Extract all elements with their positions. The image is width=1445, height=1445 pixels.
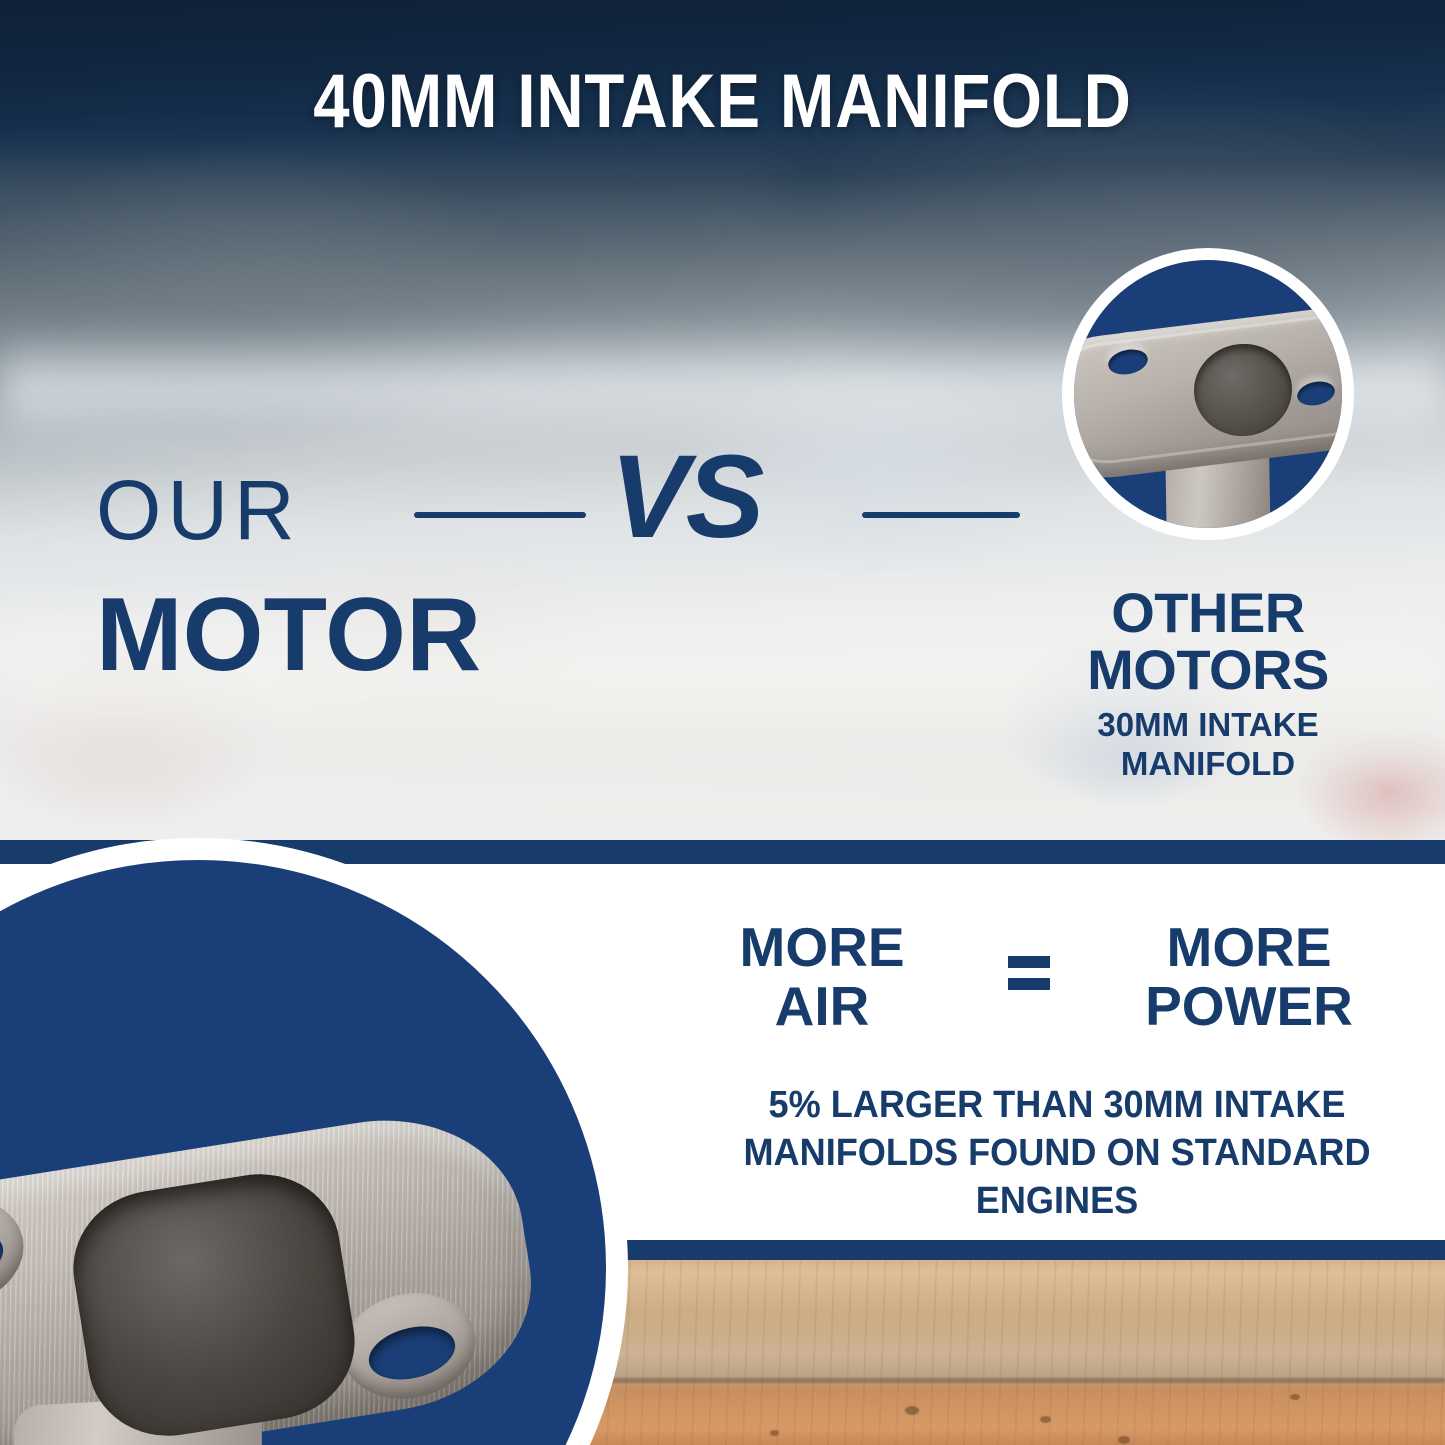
vs-label: VS: [610, 438, 761, 556]
vs-divider-left: [414, 512, 586, 518]
wood-knot: [1040, 1416, 1051, 1423]
manifold-bore-opening: [62, 1163, 365, 1445]
wood-knot: [770, 1430, 779, 1436]
other-motors-title: OTHER MOTORS: [1018, 584, 1398, 698]
claim-text: 5% LARGER THAN 30MM INTAKE MANIFOLDS FOU…: [724, 1082, 1391, 1226]
equals-sign-icon: [1008, 956, 1050, 992]
our-motor-line1: OUR: [96, 468, 301, 552]
other-motor-product-badge: [1062, 248, 1354, 540]
our-motor-line2: MOTOR: [96, 583, 481, 687]
product-infographic-poster: 40MM INTAKE MANIFOLD OUR MOTOR VS OTHER …: [0, 0, 1445, 1445]
other-motors-subtitle: 30MM INTAKE MANIFOLD: [1018, 706, 1398, 784]
wood-knot: [905, 1406, 919, 1415]
wood-knot: [1118, 1436, 1130, 1444]
wood-knot: [1290, 1394, 1300, 1400]
vs-divider-right: [862, 512, 1020, 518]
page-title: 40MM INTAKE MANIFOLD: [101, 64, 1344, 140]
equation-left-term: MORE AIR: [706, 918, 938, 1037]
equation-right-term: MORE POWER: [1090, 918, 1408, 1037]
